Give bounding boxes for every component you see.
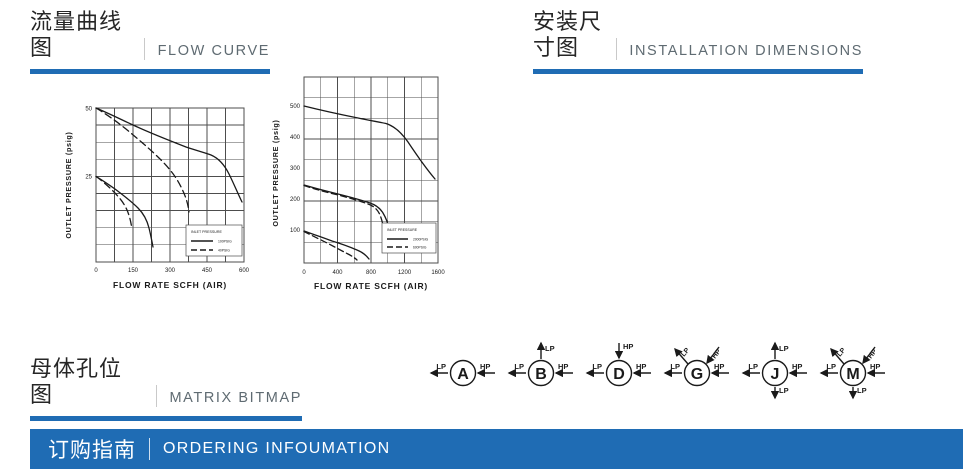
port-label-lp-top: LP: [779, 344, 789, 353]
banner-title-en: ORDERING INFOUMATION: [163, 440, 390, 458]
section-title-en-installation: INSTALLATION DIMENSIONS: [616, 41, 863, 61]
port-label-hp: HP: [558, 362, 568, 371]
chart-legend-high: INLET PRESSURE 2000PSIG 600PSIG: [382, 223, 436, 253]
port-label-hp: HP: [636, 362, 646, 371]
svg-text:200: 200: [290, 197, 301, 203]
svg-text:300: 300: [290, 166, 301, 172]
svg-text:800: 800: [366, 270, 377, 276]
svg-text:INLET PRESSURE: INLET PRESSURE: [387, 228, 418, 232]
svg-text:40PSIG: 40PSIG: [218, 249, 230, 253]
page-root: 流量曲线图 FLOW CURVE 安装尺寸图 INSTALLATION DIME…: [0, 0, 976, 473]
symbol-letter: J: [771, 366, 780, 383]
chart-flow-curve-high: INLET PRESSURE 2000PSIG 600PSIG 500 400 …: [258, 65, 458, 300]
port-label-hp-top: HP: [623, 342, 633, 351]
port-label-lp-top: LP: [545, 344, 555, 353]
port-label-hp: HP: [792, 362, 802, 371]
matrix-symbol-b: B LP HP LP: [502, 340, 580, 400]
port-label-hp: HP: [714, 362, 724, 371]
svg-text:450: 450: [202, 268, 213, 274]
matrix-symbol-g: G LP HP LP HP: [658, 340, 736, 400]
port-label-lp-bottom: LP: [857, 386, 867, 395]
section-title-cn-installation: 安装尺寸图: [533, 10, 616, 62]
port-label-hp: HP: [870, 362, 880, 371]
svg-text:100: 100: [290, 228, 301, 234]
svg-text:INLET PRESSURE: INLET PRESSURE: [191, 230, 222, 234]
svg-text:100PSIG: 100PSIG: [218, 240, 232, 244]
section-heading-flow-curve: 流量曲线图 FLOW CURVE: [30, 10, 270, 74]
banner-title-cn: 订购指南: [30, 434, 136, 464]
svg-text:25: 25: [85, 175, 92, 181]
svg-text:0: 0: [94, 268, 98, 274]
section-title-en-matrix: MATRIX BITMAP: [156, 388, 302, 408]
heading-underline-bar: [30, 416, 302, 421]
chart-flow-curve-low-svg: INLET PRESSURE 100PSIG 40PSIG 50 25 0 15…: [58, 92, 258, 297]
ordering-information-banner: 订购指南 ORDERING INFOUMATION: [30, 429, 963, 469]
heading-underline-bar: [30, 69, 270, 74]
port-label-lp: LP: [514, 362, 524, 371]
port-label-lp-bottom: LP: [779, 386, 789, 395]
matrix-symbol-j: J LP HP LP LP: [736, 340, 814, 400]
symbol-letter: G: [691, 366, 703, 383]
svg-text:50: 50: [85, 107, 92, 113]
port-label-hp: HP: [480, 362, 490, 371]
port-label-lp: LP: [826, 362, 836, 371]
symbol-letter: D: [613, 366, 625, 383]
svg-text:600PSIG: 600PSIG: [413, 246, 427, 250]
chart-ylabel-low: OUTLET PRESSURE (psig): [64, 131, 73, 238]
chart-xlabel-low: FLOW RATE SCFH (AIR): [113, 280, 227, 290]
port-label-hp-upright: HP: [867, 348, 879, 360]
svg-text:1200: 1200: [398, 270, 412, 276]
section-title-cn-flow-curve: 流量曲线图: [30, 10, 144, 62]
port-label-lp: LP: [436, 362, 446, 371]
chart-legend-low: INLET PRESSURE 100PSIG 40PSIG: [186, 225, 242, 256]
svg-text:300: 300: [165, 268, 176, 274]
svg-text:600: 600: [239, 268, 250, 274]
svg-text:1600: 1600: [431, 270, 445, 276]
port-label-lp: LP: [592, 362, 602, 371]
symbol-letter: M: [846, 366, 859, 383]
chart-xlabel-high: FLOW RATE SCFH (AIR): [314, 281, 428, 291]
symbol-letter: A: [457, 366, 469, 383]
matrix-symbol-a: A LP HP: [424, 340, 502, 400]
svg-text:400: 400: [290, 135, 301, 141]
section-heading-installation: 安装尺寸图 INSTALLATION DIMENSIONS: [533, 10, 863, 74]
section-title-cn-matrix: 母体孔位图: [30, 357, 156, 409]
chart-flow-curve-high-svg: INLET PRESSURE 2000PSIG 600PSIG 500 400 …: [258, 65, 458, 300]
port-label-lp: LP: [670, 362, 680, 371]
svg-text:2000PSIG: 2000PSIG: [413, 238, 429, 242]
svg-text:500: 500: [290, 104, 301, 110]
matrix-symbol-m: M LP HP LP HP LP: [814, 340, 892, 400]
section-heading-matrix: 母体孔位图 MATRIX BITMAP: [30, 357, 302, 421]
svg-text:0: 0: [302, 270, 306, 276]
matrix-symbol-row: A LP HP B LP HP LP D: [424, 340, 892, 400]
heading-underline-bar: [533, 69, 863, 74]
chart-ylabel-high: OUTLET PRESSURE (psig): [271, 119, 280, 226]
matrix-symbol-d: D LP HP HP: [580, 340, 658, 400]
chart-flow-curve-low: INLET PRESSURE 100PSIG 40PSIG 50 25 0 15…: [58, 92, 258, 297]
symbol-letter: B: [535, 366, 547, 383]
banner-divider: [149, 438, 150, 460]
svg-text:150: 150: [128, 268, 139, 274]
svg-text:400: 400: [332, 270, 343, 276]
port-label-lp: LP: [748, 362, 758, 371]
port-label-hp-upright: HP: [711, 348, 723, 360]
section-title-en-flow-curve: FLOW CURVE: [145, 41, 270, 61]
